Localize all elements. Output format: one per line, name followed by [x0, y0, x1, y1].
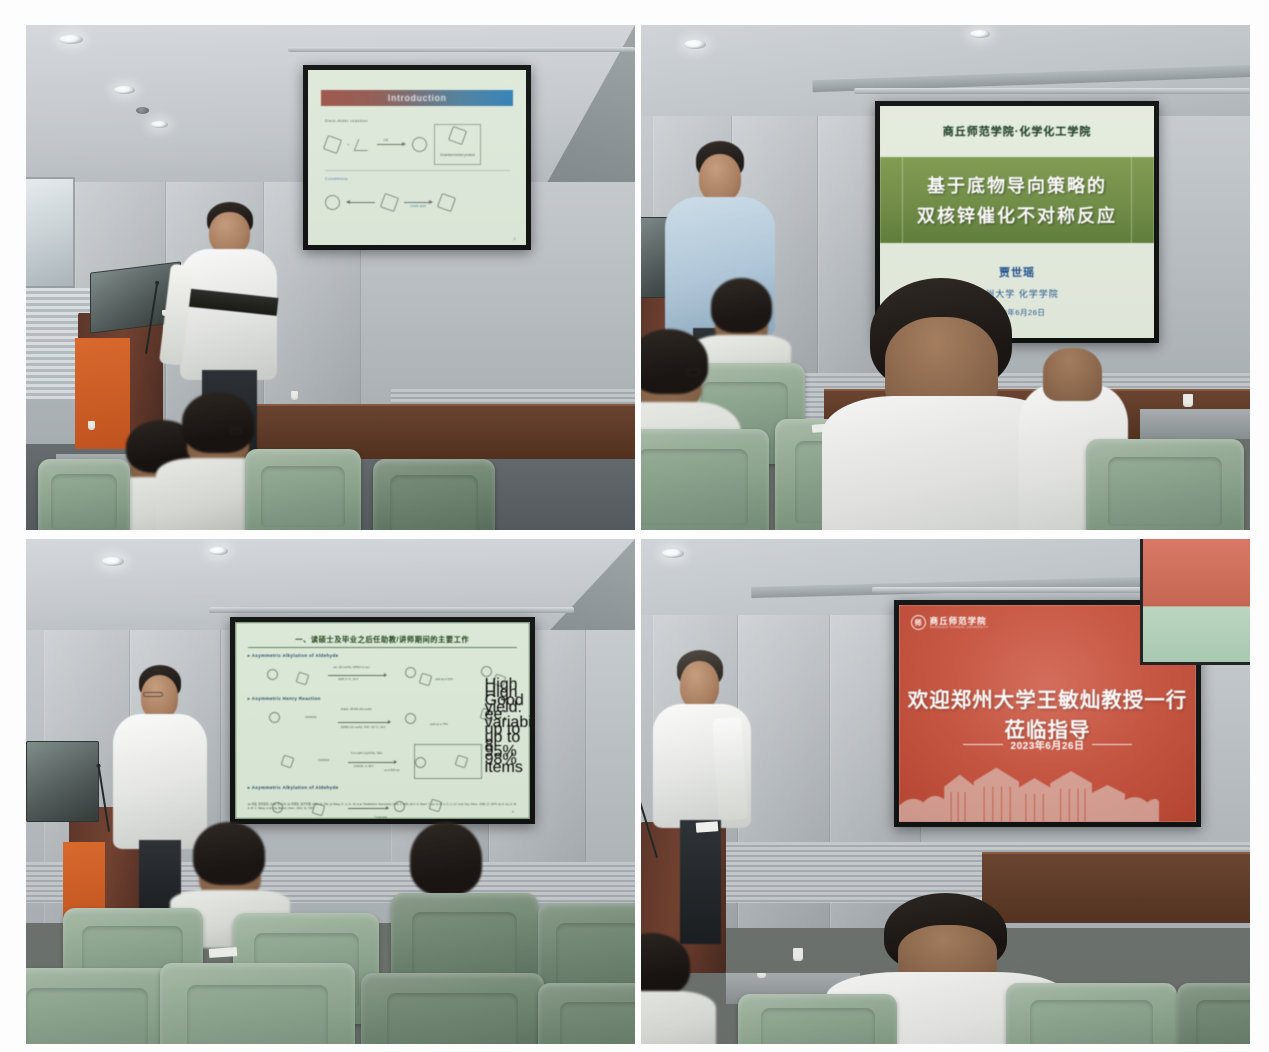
collage-panel-top-right: 商丘师范学院·化学化工学院 基于底物导向策略的 双核锌催化不对称反应 贾世瑶 郑… [641, 25, 1250, 530]
molecule-icon [296, 672, 310, 686]
reaction-scheme-1: + cat. Enantioenriched product [325, 126, 510, 164]
molecule-icon [323, 135, 342, 154]
slide-title-text: 一、读硕士及毕业之后任助教/讲师期间的主要工作 [248, 635, 517, 648]
seat [26, 968, 172, 1044]
welcome-headline: 欢迎郑州大学王敏灿教授一行莅临指导 [899, 683, 1197, 743]
torso [641, 991, 716, 1044]
molecule-icon [405, 667, 416, 678]
reaction-arrow-icon: Lewis acid [404, 202, 432, 203]
seat-pad [26, 988, 148, 1044]
eyeglasses-icon [143, 692, 163, 697]
seat-pad [1030, 1000, 1153, 1044]
title-line-2: 双核锌催化不对称反应 [917, 202, 1117, 228]
section-heading: Asymmetric Alkylation of Aldehyde [248, 785, 517, 791]
eyeglasses-icon [687, 369, 700, 376]
rule-left [963, 744, 1003, 745]
slide-section: Asymmetric Alkylation of Aldehyde cat. (… [248, 653, 517, 691]
eyeglasses-icon [230, 428, 242, 434]
yield-note: yield up to 75% [430, 723, 448, 726]
projector-screen: 一、读硕士及毕业之后任助教/讲师期间的主要工作 Asymmetric Alkyl… [230, 617, 535, 824]
reaction-arrow-icon: cat. [377, 144, 405, 145]
reaction-arrow-icon [328, 675, 386, 676]
seat [538, 983, 635, 1044]
molecule-icon [380, 193, 399, 212]
seat-pad [187, 985, 327, 1044]
section-label-1: Diels-Alder reaction [325, 118, 510, 123]
seat [1086, 439, 1244, 530]
paper-cup-icon [1183, 394, 1193, 407]
downlight-icon [114, 86, 135, 94]
collage-panel-bottom-left: 一、读硕士及毕业之后任助教/讲师期间的主要工作 Asymmetric Alkyl… [26, 539, 635, 1044]
seat-pad [261, 466, 344, 528]
paper-sheet [695, 821, 718, 833]
collage-panel-bottom-right: 师 商丘师范学院 SHANGQIU NORMAL UNIVERSITY 欢迎郑州… [641, 539, 1250, 1044]
seat [1177, 983, 1250, 1044]
highlight-inset [414, 744, 481, 779]
speaker-bottom-right [653, 650, 750, 933]
downlight-icon [102, 557, 124, 566]
seat-pad [1108, 457, 1222, 526]
reaction-scheme: cat. (10 mol%), DIPEA (1 eq.) DMF, 0 °C,… [262, 661, 517, 691]
laptop-icon [26, 741, 99, 822]
slide-work-summary: 一、读硕士及毕业之后任助教/讲师期间的主要工作 Asymmetric Alkyl… [235, 622, 530, 819]
seat-pad [387, 993, 519, 1044]
audience-member-foreground [848, 278, 1031, 531]
slide-header-title: Introduction [388, 93, 447, 103]
seat [160, 963, 355, 1044]
reaction-arrow-icon [347, 202, 375, 203]
molecule-icon [281, 755, 295, 769]
seat [245, 449, 361, 530]
screen-rail [288, 47, 635, 52]
seat-pad [390, 475, 478, 530]
molecule-icon [269, 712, 280, 723]
yield-note: 7 examples [374, 816, 387, 819]
slide-page-number: 4 [512, 810, 514, 814]
university-logo: 师 商丘师范学院 SHANGQIU NORMAL UNIVERSITY [911, 615, 989, 630]
downlight-icon [209, 547, 228, 555]
paper-cup-icon [757, 973, 766, 978]
reagent-label: CH3NO2 [318, 759, 329, 763]
logo-text: 商丘师范学院 SHANGQIU NORMAL UNIVERSITY [930, 617, 989, 629]
reaction-arrow-icon [338, 722, 390, 723]
downlight-icon [151, 121, 168, 128]
yield-note: up to 82% ee [384, 769, 399, 772]
molecule-icon [267, 669, 278, 680]
reaction-conditions: cat. (10 mol%), DIPEA (1 eq.) [333, 666, 370, 670]
institution-text: 商丘师范学院·化学化工学院 [943, 123, 1092, 139]
seat [1006, 983, 1177, 1044]
section-heading: Asymmetric Alkylation of Aldehyde [248, 653, 517, 659]
hair [641, 329, 708, 394]
photo-collage: Introduction Diels-Alder reaction + cat. [0, 0, 1269, 1052]
head [699, 154, 741, 202]
paper-cup-icon [793, 948, 803, 961]
slide-page-number: 3 [514, 237, 516, 241]
product-caption: Enantioenriched product [440, 153, 475, 157]
smoke-detector-icon [136, 107, 149, 114]
projector-screen: Introduction Diels-Alder reaction + cat. [303, 65, 531, 249]
reaction-conditions: 5.0 mol% Cu(OTf)2, TEA [351, 752, 382, 756]
screen-rail [854, 88, 1250, 94]
seat-pad [641, 449, 748, 525]
reaction-conditions: DMF, 0 °C, 24 h [338, 678, 358, 682]
slide-header-bar: Introduction [321, 90, 513, 106]
downlight-icon [970, 30, 990, 38]
projected-slide-area: Introduction Diels-Alder reaction + cat. [308, 70, 526, 244]
seat-pad [1196, 1000, 1250, 1044]
arrow-label: cat. [383, 138, 388, 142]
collage-panel-top-left: Introduction Diels-Alder reaction + cat. [26, 25, 635, 530]
section-label-2: Conditions [325, 176, 510, 181]
downlight-icon [684, 40, 706, 49]
molecule-icon [405, 713, 416, 724]
seat-pad [51, 474, 117, 529]
divider [325, 170, 510, 171]
molecule-icon [323, 193, 342, 212]
seat [373, 459, 495, 530]
title-line-1: 基于底物导向策略的 [927, 172, 1107, 198]
audience-member [641, 933, 702, 1044]
seat-pad [560, 1002, 635, 1044]
reaction-scheme: CH3NO2 ZnEt2, 4Å MS (20 mol%) DiPEA (12 … [262, 704, 517, 748]
molecule-icon [448, 126, 467, 145]
yield-note: yield up to 92% [435, 678, 453, 681]
institution-line: 商丘师范学院·化学化工学院 [880, 106, 1153, 157]
logo-name-en: SHANGQIU NORMAL UNIVERSITY [930, 626, 989, 629]
picture-frame-icon [1140, 539, 1250, 665]
molecule-icon [410, 135, 429, 154]
seat-pad [761, 1008, 875, 1044]
reaction-scheme-2: Lewis acid [325, 184, 510, 222]
title-band: 基于底物导向策略的 双核锌催化不对称反应 [880, 157, 1153, 243]
welcome-date-row: 2023年6月26日 [899, 737, 1197, 752]
hair [193, 822, 264, 885]
legs [680, 820, 721, 944]
arrow-label: Lewis acid [410, 204, 426, 208]
molecule-icon [437, 193, 456, 212]
hair [410, 822, 482, 895]
rule-right [1092, 744, 1132, 745]
welcome-date: 2023年6月26日 [1011, 737, 1085, 752]
slide-body: Diels-Alder reaction + cat. Enanti [321, 106, 513, 222]
reaction-conditions: DiPEA (12 mol%), THF, -20 °C, 24 h [341, 726, 386, 730]
product-box: Enantioenriched product [434, 124, 481, 165]
seat [38, 459, 129, 530]
reaction-conditions: ZnEt2, 4Å MS (20 mol%) [341, 708, 372, 712]
highlight-note-3: Good variability: 8 items [485, 690, 523, 780]
head [680, 661, 719, 709]
window [26, 177, 75, 288]
screen-rail [209, 607, 574, 613]
slide-references: (a) 李瑶, 贾世瑶等, 2010, 32, 232; (b) 李晓等, 化学… [248, 803, 517, 811]
projected-slide-area: 一、读硕士及毕业之后任助教/讲师期间的主要工作 Asymmetric Alkyl… [235, 622, 530, 819]
hair [641, 933, 690, 996]
hair [711, 278, 771, 334]
seat [738, 994, 896, 1045]
reaction-conditions: CH2Cl2, rt, 48 h [354, 765, 374, 769]
side-table [1140, 409, 1250, 439]
section-heading: Asymmetric Henry Reaction [248, 696, 517, 702]
molecule-icon [418, 673, 432, 687]
university-seal-icon: 师 [911, 615, 926, 630]
slide-introduction: Introduction Diels-Alder reaction + cat. [308, 70, 526, 244]
paper-cup-icon [88, 421, 95, 430]
molecule-icon [354, 139, 373, 151]
seat [361, 973, 544, 1044]
seat [641, 429, 769, 530]
hair [182, 392, 254, 452]
campus-skyline-illustration [899, 752, 1160, 822]
reagent-label: CH3NO2 [305, 716, 316, 720]
head-back [1043, 348, 1102, 401]
paper-cup-icon [291, 391, 298, 400]
head [209, 212, 249, 254]
reaction-arrow-icon [348, 762, 396, 763]
